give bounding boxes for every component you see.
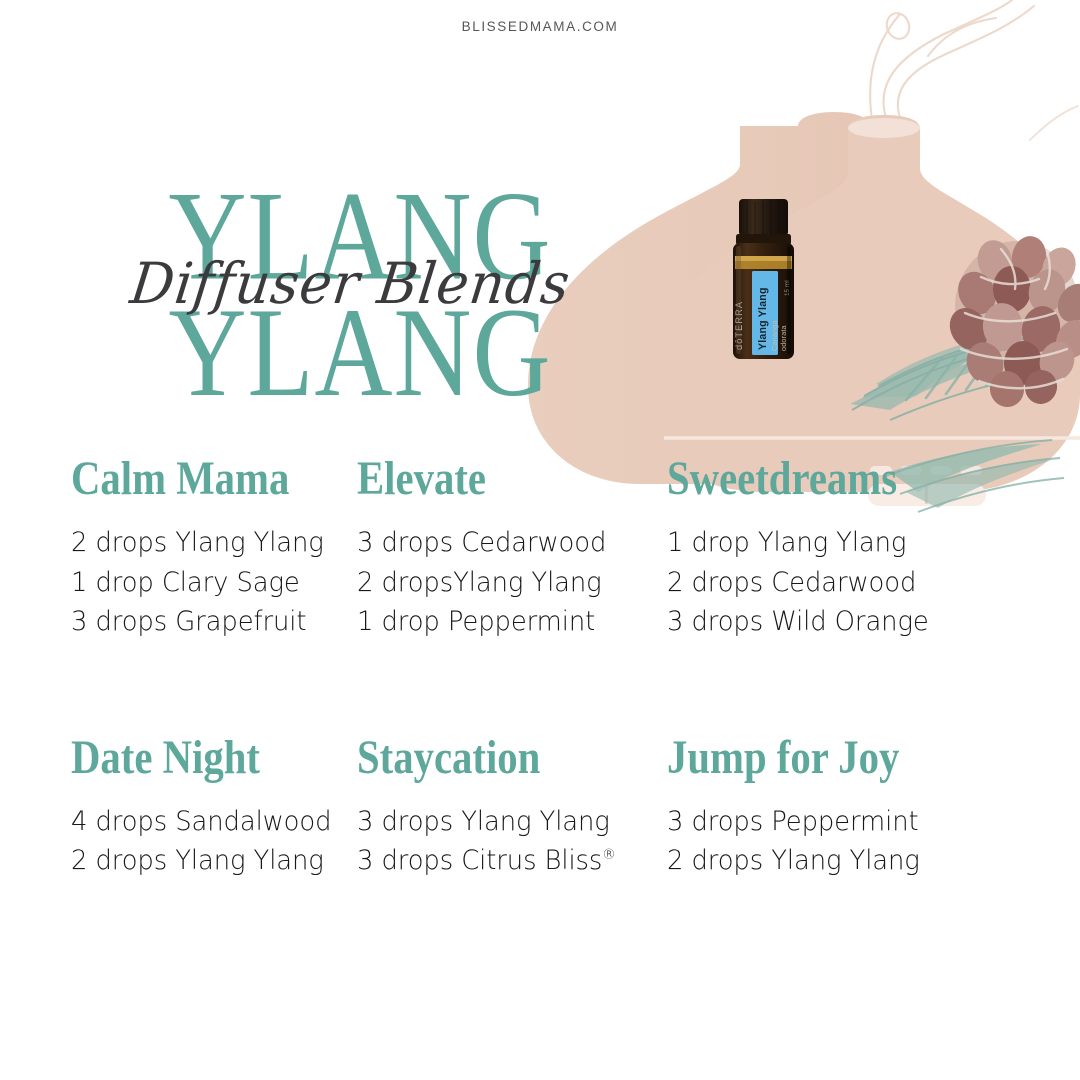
- blend-recipe-list: 1 drop Ylang Ylang 2 drops Cedarwood 3 d…: [667, 523, 1080, 642]
- recipe-line: 2 drops Cedarwood: [667, 563, 1070, 603]
- recipe-line: 2 drops Ylang Ylang: [71, 841, 324, 881]
- pinecone: [942, 233, 1080, 409]
- blend-card-sweetdreams: Sweetdreams 1 drop Ylang Ylang 2 drops C…: [642, 455, 1080, 642]
- blend-recipe-list: 3 drops Cedarwood 2 dropsYlang Ylang 1 d…: [357, 523, 642, 642]
- blend-card-calm-mama: Calm Mama 2 drops Ylang Ylang 1 drop Cla…: [0, 455, 330, 642]
- blend-title: Staycation: [357, 734, 633, 782]
- bottle-brand-text: dōTERRA: [734, 301, 744, 350]
- recipe-line: 1 drop Ylang Ylang: [667, 523, 1070, 563]
- subheadline-wrapper: Diffuser Blends: [0, 252, 700, 315]
- recipe-line: 2 dropsYlang Ylang: [357, 563, 635, 603]
- blend-card-date-night: Date Night 4 drops Sandalwood 2 drops Yl…: [0, 734, 330, 881]
- poster-canvas: dōTERRA Ylang Ylang Cananga odorata 15 m…: [0, 0, 1080, 1080]
- svg-text:odorata: odorata: [779, 324, 788, 351]
- recipe-line: 2 drops Ylang Ylang: [71, 523, 324, 563]
- recipe-line: 3 drops Wild Orange: [667, 602, 1070, 642]
- blend-row-1: Calm Mama 2 drops Ylang Ylang 1 drop Cla…: [0, 455, 1080, 642]
- blend-recipe-list: 3 drops Ylang Ylang 3 drops Citrus Bliss…: [357, 802, 642, 881]
- recipe-line: 4 drops Sandalwood: [71, 802, 324, 842]
- blend-title: Jump for Joy: [667, 734, 1068, 782]
- blend-recipe-list: 4 drops Sandalwood 2 drops Ylang Ylang: [71, 802, 330, 881]
- recipe-line: 1 drop Peppermint: [357, 602, 635, 642]
- blend-title: Date Night: [71, 734, 322, 782]
- recipe-line: 3 drops Grapefruit: [71, 602, 324, 642]
- bottle-volume: 15 ml: [784, 280, 791, 296]
- page-subtitle: Diffuser Blends: [126, 250, 573, 316]
- blend-recipe-list: 2 drops Ylang Ylang 1 drop Clary Sage 3 …: [71, 523, 330, 642]
- blend-card-staycation: Staycation 3 drops Ylang Ylang 3 drops C…: [330, 734, 642, 881]
- site-url: BLISSEDMAMA.COM: [0, 19, 1080, 34]
- blend-title: Elevate: [357, 455, 633, 503]
- bottle-oil-name: Ylang Ylang: [757, 287, 769, 350]
- blend-recipe-list: 3 drops Peppermint 2 drops Ylang Ylang: [667, 802, 1080, 881]
- essential-oil-bottle: dōTERRA Ylang Ylang Cananga odorata 15 m…: [733, 199, 794, 359]
- bottle-botanical-name: Cananga: [770, 320, 779, 351]
- recipe-line: 3 drops Citrus Bliss®: [357, 841, 635, 881]
- blend-row-2: Date Night 4 drops Sandalwood 2 drops Yl…: [0, 734, 1080, 881]
- blend-grid: Calm Mama 2 drops Ylang Ylang 1 drop Cla…: [0, 455, 1080, 881]
- recipe-line: 3 drops Peppermint: [667, 802, 1070, 842]
- recipe-line: 1 drop Clary Sage: [71, 563, 324, 603]
- blend-card-jump-for-joy: Jump for Joy 3 drops Peppermint 2 drops …: [642, 734, 1080, 881]
- recipe-line: 2 drops Ylang Ylang: [667, 841, 1070, 881]
- recipe-line: 3 drops Cedarwood: [357, 523, 635, 563]
- blend-title: Calm Mama: [71, 455, 322, 503]
- blend-card-elevate: Elevate 3 drops Cedarwood 2 dropsYlang Y…: [330, 455, 642, 642]
- blend-title: Sweetdreams: [667, 455, 1068, 503]
- recipe-line: 3 drops Ylang Ylang: [357, 802, 635, 842]
